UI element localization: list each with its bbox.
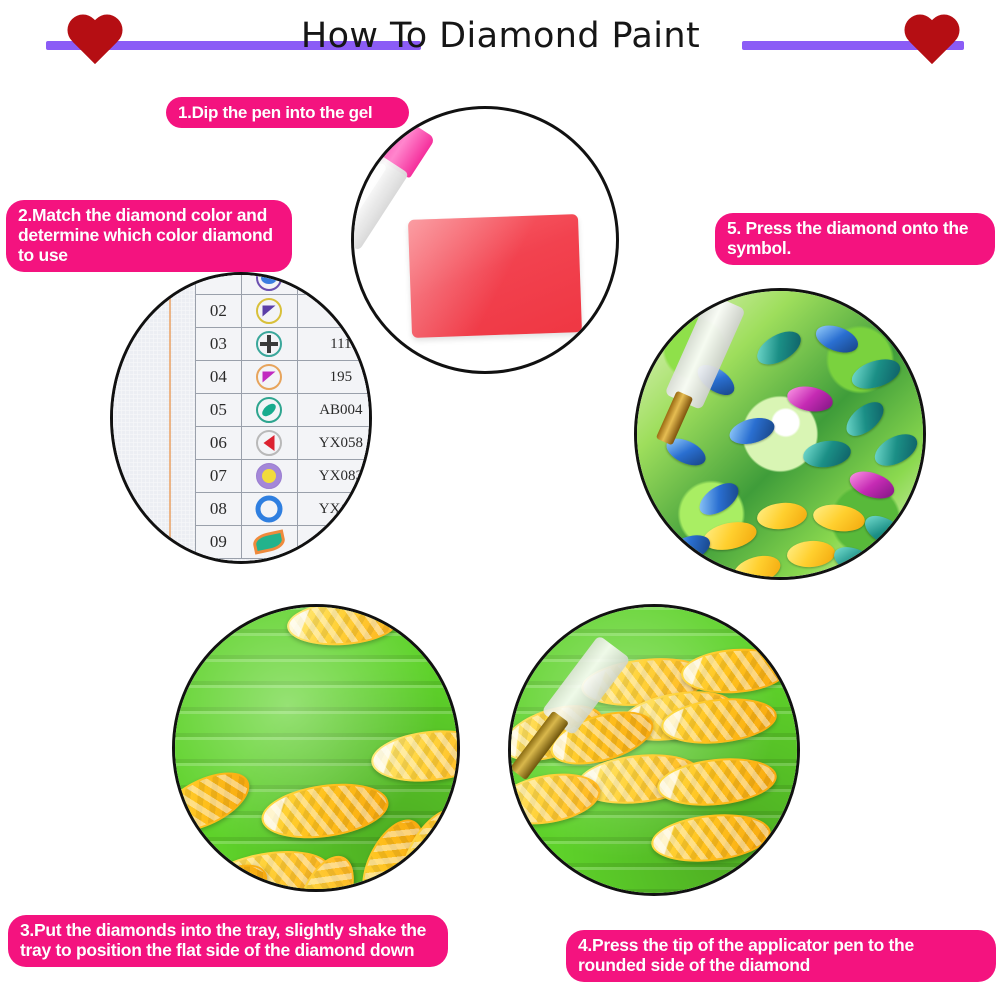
legend-number: 04 <box>196 361 242 394</box>
pen-tip <box>351 228 353 267</box>
legend-code: YX083 <box>297 460 372 493</box>
legend-code: AB004 <box>297 394 372 427</box>
canvas-gem <box>752 325 807 372</box>
canvas-gem <box>730 551 783 580</box>
legend-code: 093 <box>297 295 372 328</box>
canvas-gem <box>830 542 880 580</box>
photo-scene-tray <box>175 607 457 889</box>
canvas-gem <box>812 320 862 358</box>
legend-row: 05AB004 <box>196 394 373 427</box>
canvas-gem <box>870 428 923 473</box>
legend-code: 111 <box>297 328 372 361</box>
canvas-gem <box>846 466 897 503</box>
page-header: How To Diamond Paint <box>0 0 1001 78</box>
photo-scene-legend: 02802093031110419505AB00406YX05807YX0830… <box>113 275 369 561</box>
canvas-gem <box>785 383 834 415</box>
legend-code: YX125 <box>297 526 372 559</box>
legend-row: 08YX106 <box>196 493 373 526</box>
step-3-label: 3.Put the diamonds into the tray, slight… <box>8 915 448 967</box>
step-2-photo: 02802093031110419505AB00406YX05807YX0830… <box>110 272 372 564</box>
step-1-label: 1.Dip the pen into the gel <box>166 97 409 128</box>
canvas-gem <box>786 539 836 568</box>
legend-code: YX058 <box>297 427 372 460</box>
canvas-gem <box>756 500 808 531</box>
photo-scene-canvas <box>637 291 923 577</box>
legend-number: 03 <box>196 328 242 361</box>
yellow-dot-icon <box>241 460 297 493</box>
blue-ring-icon <box>241 493 297 526</box>
photo-scene-pickup <box>511 607 797 893</box>
canvas-gem <box>694 477 744 522</box>
orange-guide-line <box>169 275 171 561</box>
canvas-gem <box>848 354 904 394</box>
triangle-magenta-icon <box>241 361 297 394</box>
legend-row: 06YX058 <box>196 427 373 460</box>
legend-number: 02 <box>196 295 242 328</box>
page-title: How To Diamond Paint <box>0 16 1001 56</box>
step-3-photo <box>172 604 460 892</box>
legend-number: 08 <box>196 493 242 526</box>
legend-symbol <box>241 272 297 295</box>
legend-row: 02093 <box>196 295 373 328</box>
step-5-photo <box>634 288 926 580</box>
legend-number <box>196 272 242 295</box>
legend-row-clipped: 028 <box>196 272 373 295</box>
legend-number: 07 <box>196 460 242 493</box>
canvas-gem <box>840 396 889 443</box>
step-5-label: 5. Press the diamond onto the symbol. <box>715 213 995 265</box>
legend-number: 05 <box>196 394 242 427</box>
legend-code: 195 <box>297 361 372 394</box>
photo-scene-gel <box>354 109 616 371</box>
step-1-photo <box>351 106 619 374</box>
canvas-gem <box>811 502 866 535</box>
step-2-label: 2.Match the diamond color and determine … <box>6 200 292 272</box>
plus-cross-icon <box>241 328 297 361</box>
legend-code: 028 <box>297 272 372 295</box>
legend-code: YX106 <box>297 493 372 526</box>
pen-tip <box>656 391 694 446</box>
step-4-label: 4.Press the tip of the applicator pen to… <box>566 930 996 982</box>
legend-row: 03111 <box>196 328 373 361</box>
red-gel-square <box>408 214 582 338</box>
legend-row: 07YX083 <box>196 460 373 493</box>
triangle-purple-icon <box>241 295 297 328</box>
legend-table: 02802093031110419505AB00406YX05807YX0830… <box>195 272 372 559</box>
red-arrow-icon <box>241 427 297 460</box>
canvas-gem <box>860 510 910 553</box>
canvas-gem <box>727 413 778 448</box>
teal-oval-icon <box>241 394 297 427</box>
green-leaf-icon <box>241 526 297 559</box>
legend-row: 09YX125 <box>196 526 373 559</box>
legend-row: 04195 <box>196 361 373 394</box>
canvas-gem <box>701 518 759 555</box>
canvas-gem <box>801 438 852 470</box>
legend-number: 09 <box>196 526 242 559</box>
step-4-photo <box>508 604 800 896</box>
legend-number: 06 <box>196 427 242 460</box>
